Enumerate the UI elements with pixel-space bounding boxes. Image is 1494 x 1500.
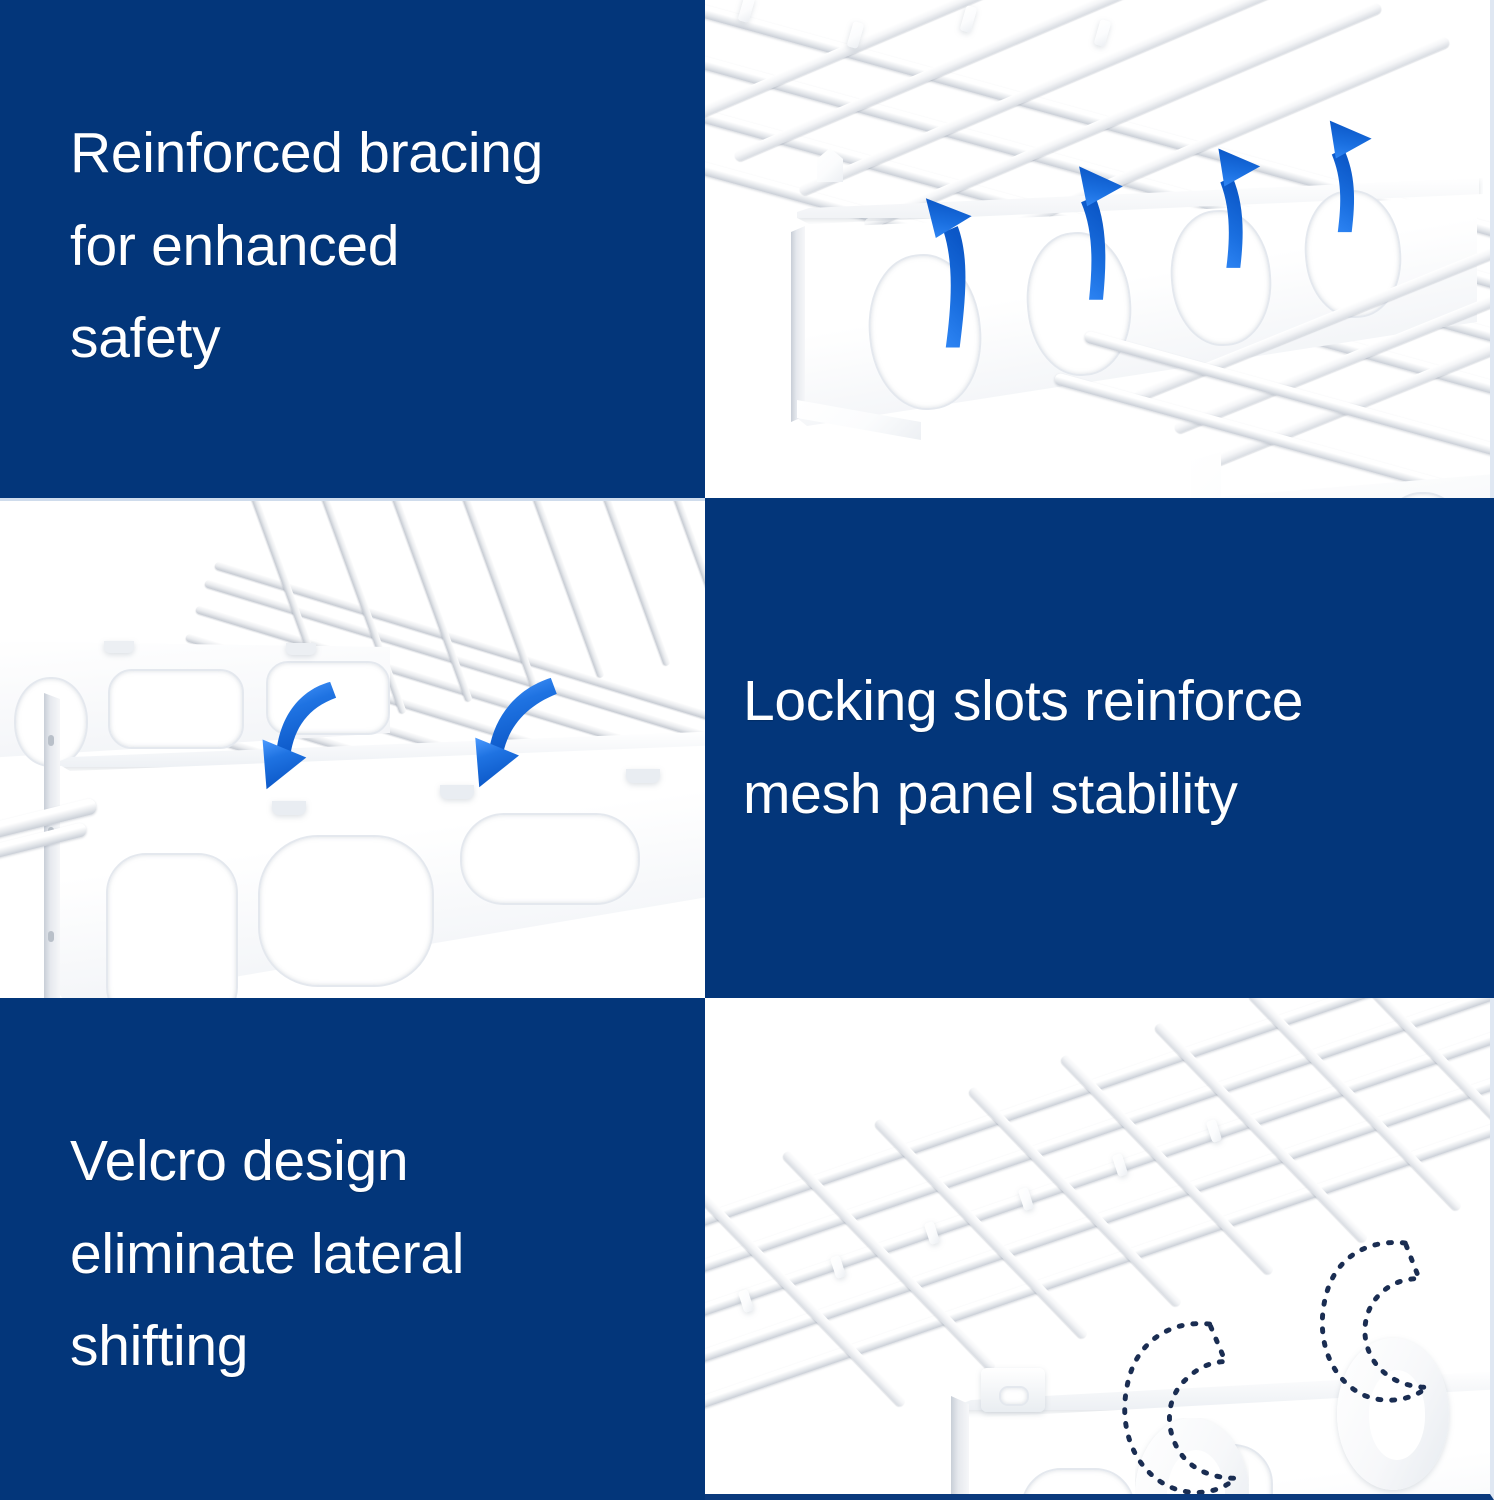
reinforcement-arrows xyxy=(705,0,1490,498)
curved-up-arrow xyxy=(926,198,972,347)
feature-2-headline: Locking slots reinforce mesh panel stabi… xyxy=(705,655,1303,841)
curved-up-arrow xyxy=(1330,121,1372,232)
feature-infographic-grid: Reinforced bracing for enhanced safety xyxy=(0,0,1494,1500)
feature-1-text-panel: Reinforced bracing for enhanced safety xyxy=(0,0,705,498)
feature-2-text-panel: Locking slots reinforce mesh panel stabi… xyxy=(705,498,1494,998)
curved-up-arrow xyxy=(1218,149,1260,268)
locking-arrows xyxy=(0,501,705,998)
dotted-outline-icon xyxy=(1125,1324,1236,1493)
feature-1-photo xyxy=(705,0,1494,498)
feature-2-photo xyxy=(0,498,705,998)
curved-up-arrow xyxy=(1079,166,1123,299)
velcro-design-illustration xyxy=(705,998,1490,1494)
feature-3-text-panel: Velcro design eliminate lateral shifting xyxy=(0,998,705,1500)
reinforced-bracing-illustration xyxy=(705,0,1490,498)
curved-down-arrow xyxy=(263,682,337,789)
curved-down-arrow xyxy=(475,678,557,787)
feature-1-headline: Reinforced bracing for enhanced safety xyxy=(0,107,543,386)
locking-slots-illustration xyxy=(0,501,705,998)
velcro-highlight-outlines xyxy=(705,998,1490,1494)
dotted-outline-icon xyxy=(1322,1242,1427,1400)
feature-3-photo xyxy=(705,998,1494,1500)
feature-3-headline: Velcro design eliminate lateral shifting xyxy=(0,1115,464,1394)
